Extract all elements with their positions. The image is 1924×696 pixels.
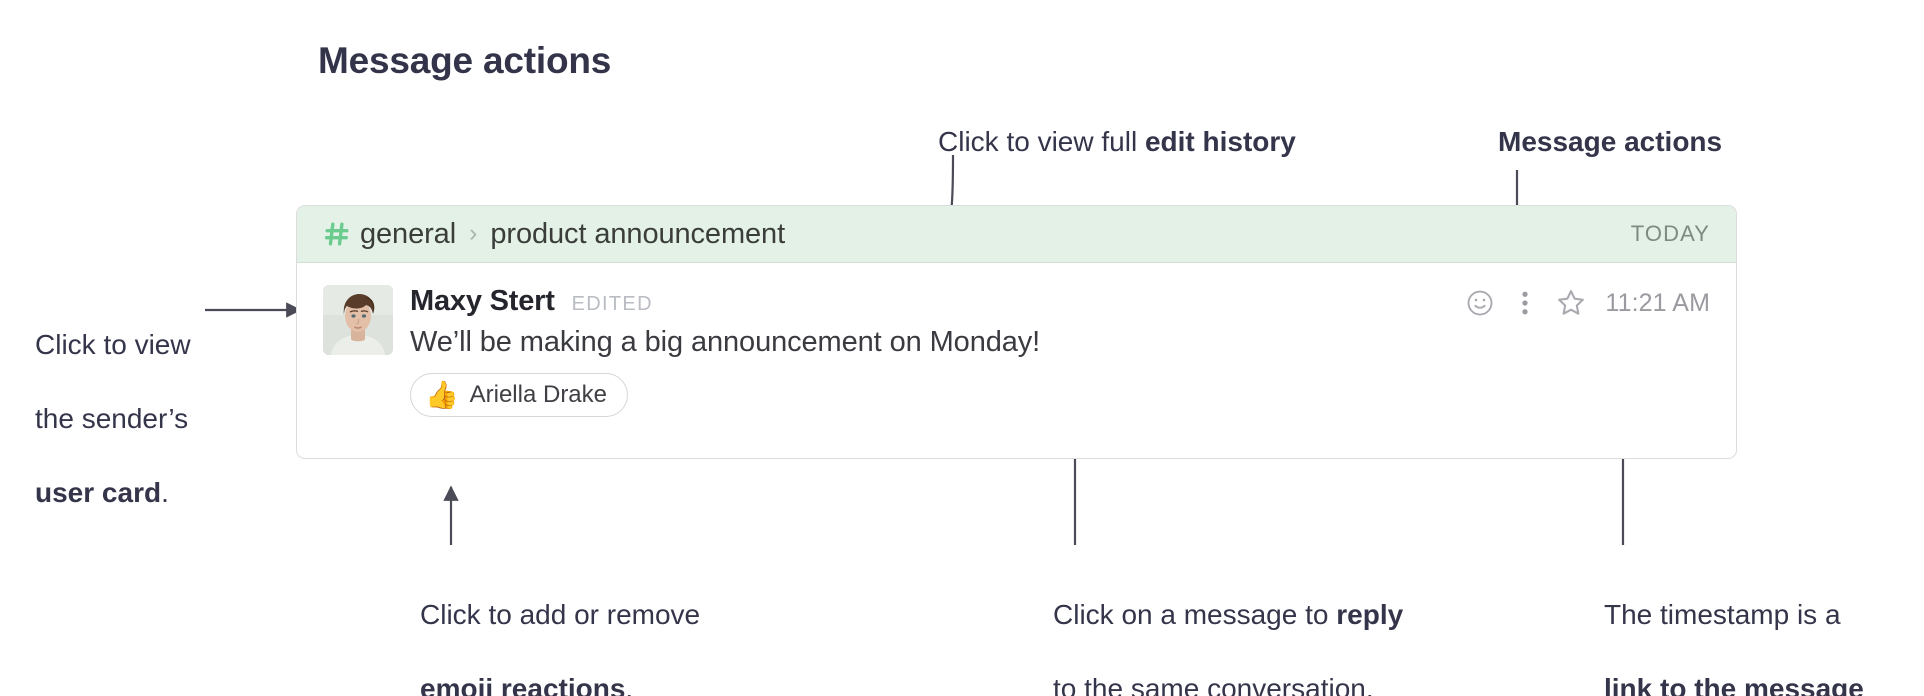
annotation-edit-history-lead: Click to view full (938, 126, 1145, 157)
message-content: Maxy Stert EDITED We’ll be making a big … (410, 285, 1710, 417)
annotation-emoji-reactions-tail: . (625, 673, 633, 696)
message-actions-toolbar: 11:21 AM (1465, 287, 1710, 319)
page-title: Message actions (318, 40, 611, 82)
message-row[interactable]: Maxy Stert EDITED We’ll be making a big … (297, 263, 1736, 417)
reaction-row: 👍 Ariella Drake (410, 373, 1710, 417)
add-reaction-icon[interactable] (1465, 288, 1495, 318)
annotation-user-card-line2: the sender’s (35, 403, 188, 434)
annotation-timestamp-line1: The timestamp is a (1604, 599, 1841, 630)
reaction-pill[interactable]: 👍 Ariella Drake (410, 373, 628, 417)
message-actions-icon[interactable] (1521, 288, 1529, 318)
annotation-timestamp: The timestamp is a link to the message (… (1604, 560, 1924, 696)
message-card: general › product announcement TODAY (296, 205, 1737, 459)
message-card-header: general › product announcement TODAY (297, 206, 1736, 263)
date-label: TODAY (1631, 221, 1710, 247)
annotation-user-card-tail: . (161, 477, 169, 508)
annotation-emoji-reactions-bold: emoji reactions (420, 673, 625, 696)
annotation-reply-lead: Click on a message to (1053, 599, 1336, 630)
star-message-icon[interactable] (1555, 287, 1587, 319)
annotation-timestamp-bold: link to the message (1604, 673, 1864, 696)
sender-name[interactable]: Maxy Stert (410, 285, 555, 318)
topic-name[interactable]: product announcement (490, 218, 785, 251)
annotation-reply-line2: to the same conversation. (1053, 673, 1374, 696)
annotation-edit-history-bold: edit history (1145, 126, 1296, 157)
thumbs-up-emoji: 👍 (425, 382, 459, 409)
reaction-user-name: Ariella Drake (470, 381, 607, 409)
message-text[interactable]: We’ll be making a big announcement on Mo… (410, 326, 1710, 359)
edited-badge[interactable]: EDITED (572, 293, 653, 316)
annotation-user-card: Click to view the sender’s user card. (35, 290, 315, 512)
annotation-emoji-reactions: Click to add or remove emoji reactions. (420, 560, 760, 696)
hash-icon (323, 219, 351, 249)
annotation-user-card-line1: Click to view (35, 329, 191, 360)
avatar[interactable] (323, 285, 393, 355)
chevron-right-icon: › (469, 221, 477, 246)
annotation-reply: Click on a message to reply to the same … (1053, 560, 1453, 696)
annotation-user-card-bold: user card (35, 477, 161, 508)
message-timestamp[interactable]: 11:21 AM (1605, 289, 1710, 318)
avatar-image (323, 285, 393, 355)
annotation-emoji-reactions-line1: Click to add or remove (420, 599, 700, 630)
channel-name[interactable]: general (360, 218, 456, 251)
page-root: Message actions Click to view the sender… (0, 0, 1924, 696)
annotation-reply-bold: reply (1336, 599, 1403, 630)
annotation-message-actions-bold: Message actions (1498, 126, 1722, 157)
